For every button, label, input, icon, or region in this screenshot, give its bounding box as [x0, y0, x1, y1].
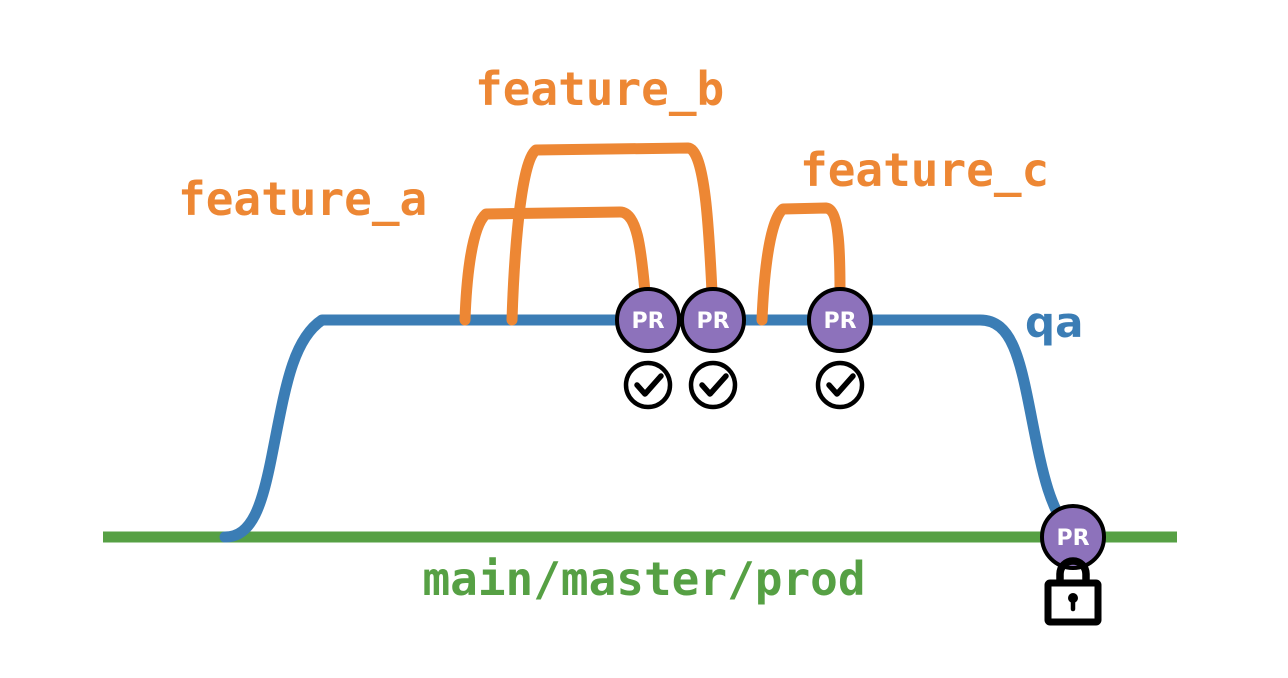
branch-label-feature-a: feature_a — [178, 172, 427, 226]
pr-node-feature-c[interactable]: PR — [809, 289, 871, 351]
git-branching-diagram: PR PR PR PR — [0, 0, 1288, 678]
check-circle-icon-pr-feature-b[interactable] — [691, 363, 735, 407]
branch-label-feature-c: feature_c — [800, 143, 1049, 197]
feature-a-branch-line[interactable] — [465, 212, 645, 320]
lock-icon-pr-qa-main[interactable] — [1048, 561, 1098, 622]
branch-label-qa: qa — [1025, 298, 1083, 347]
branch-label-feature-b: feature_b — [475, 62, 724, 116]
check-circle-icon-pr-feature-c[interactable] — [818, 363, 862, 407]
git-flow-canvas: PR PR PR PR — [0, 0, 1288, 678]
feature-b-branch-line[interactable] — [512, 148, 712, 320]
pr-node-label: PR — [631, 309, 664, 334]
check-circle-outline — [626, 363, 670, 407]
pr-node-label: PR — [823, 309, 856, 334]
pr-node-feature-b[interactable]: PR — [682, 289, 744, 351]
branch-label-main: main/master/prod — [422, 552, 865, 606]
pr-node-label: PR — [696, 309, 729, 334]
feature-a-branch-group — [465, 212, 645, 320]
pr-node-label: PR — [1056, 526, 1089, 551]
pr-node-feature-a[interactable]: PR — [617, 289, 679, 351]
check-circle-outline — [691, 363, 735, 407]
check-circle-icon-pr-feature-a[interactable] — [626, 363, 670, 407]
feature-b-branch-group — [512, 148, 712, 320]
check-circle-outline — [818, 363, 862, 407]
